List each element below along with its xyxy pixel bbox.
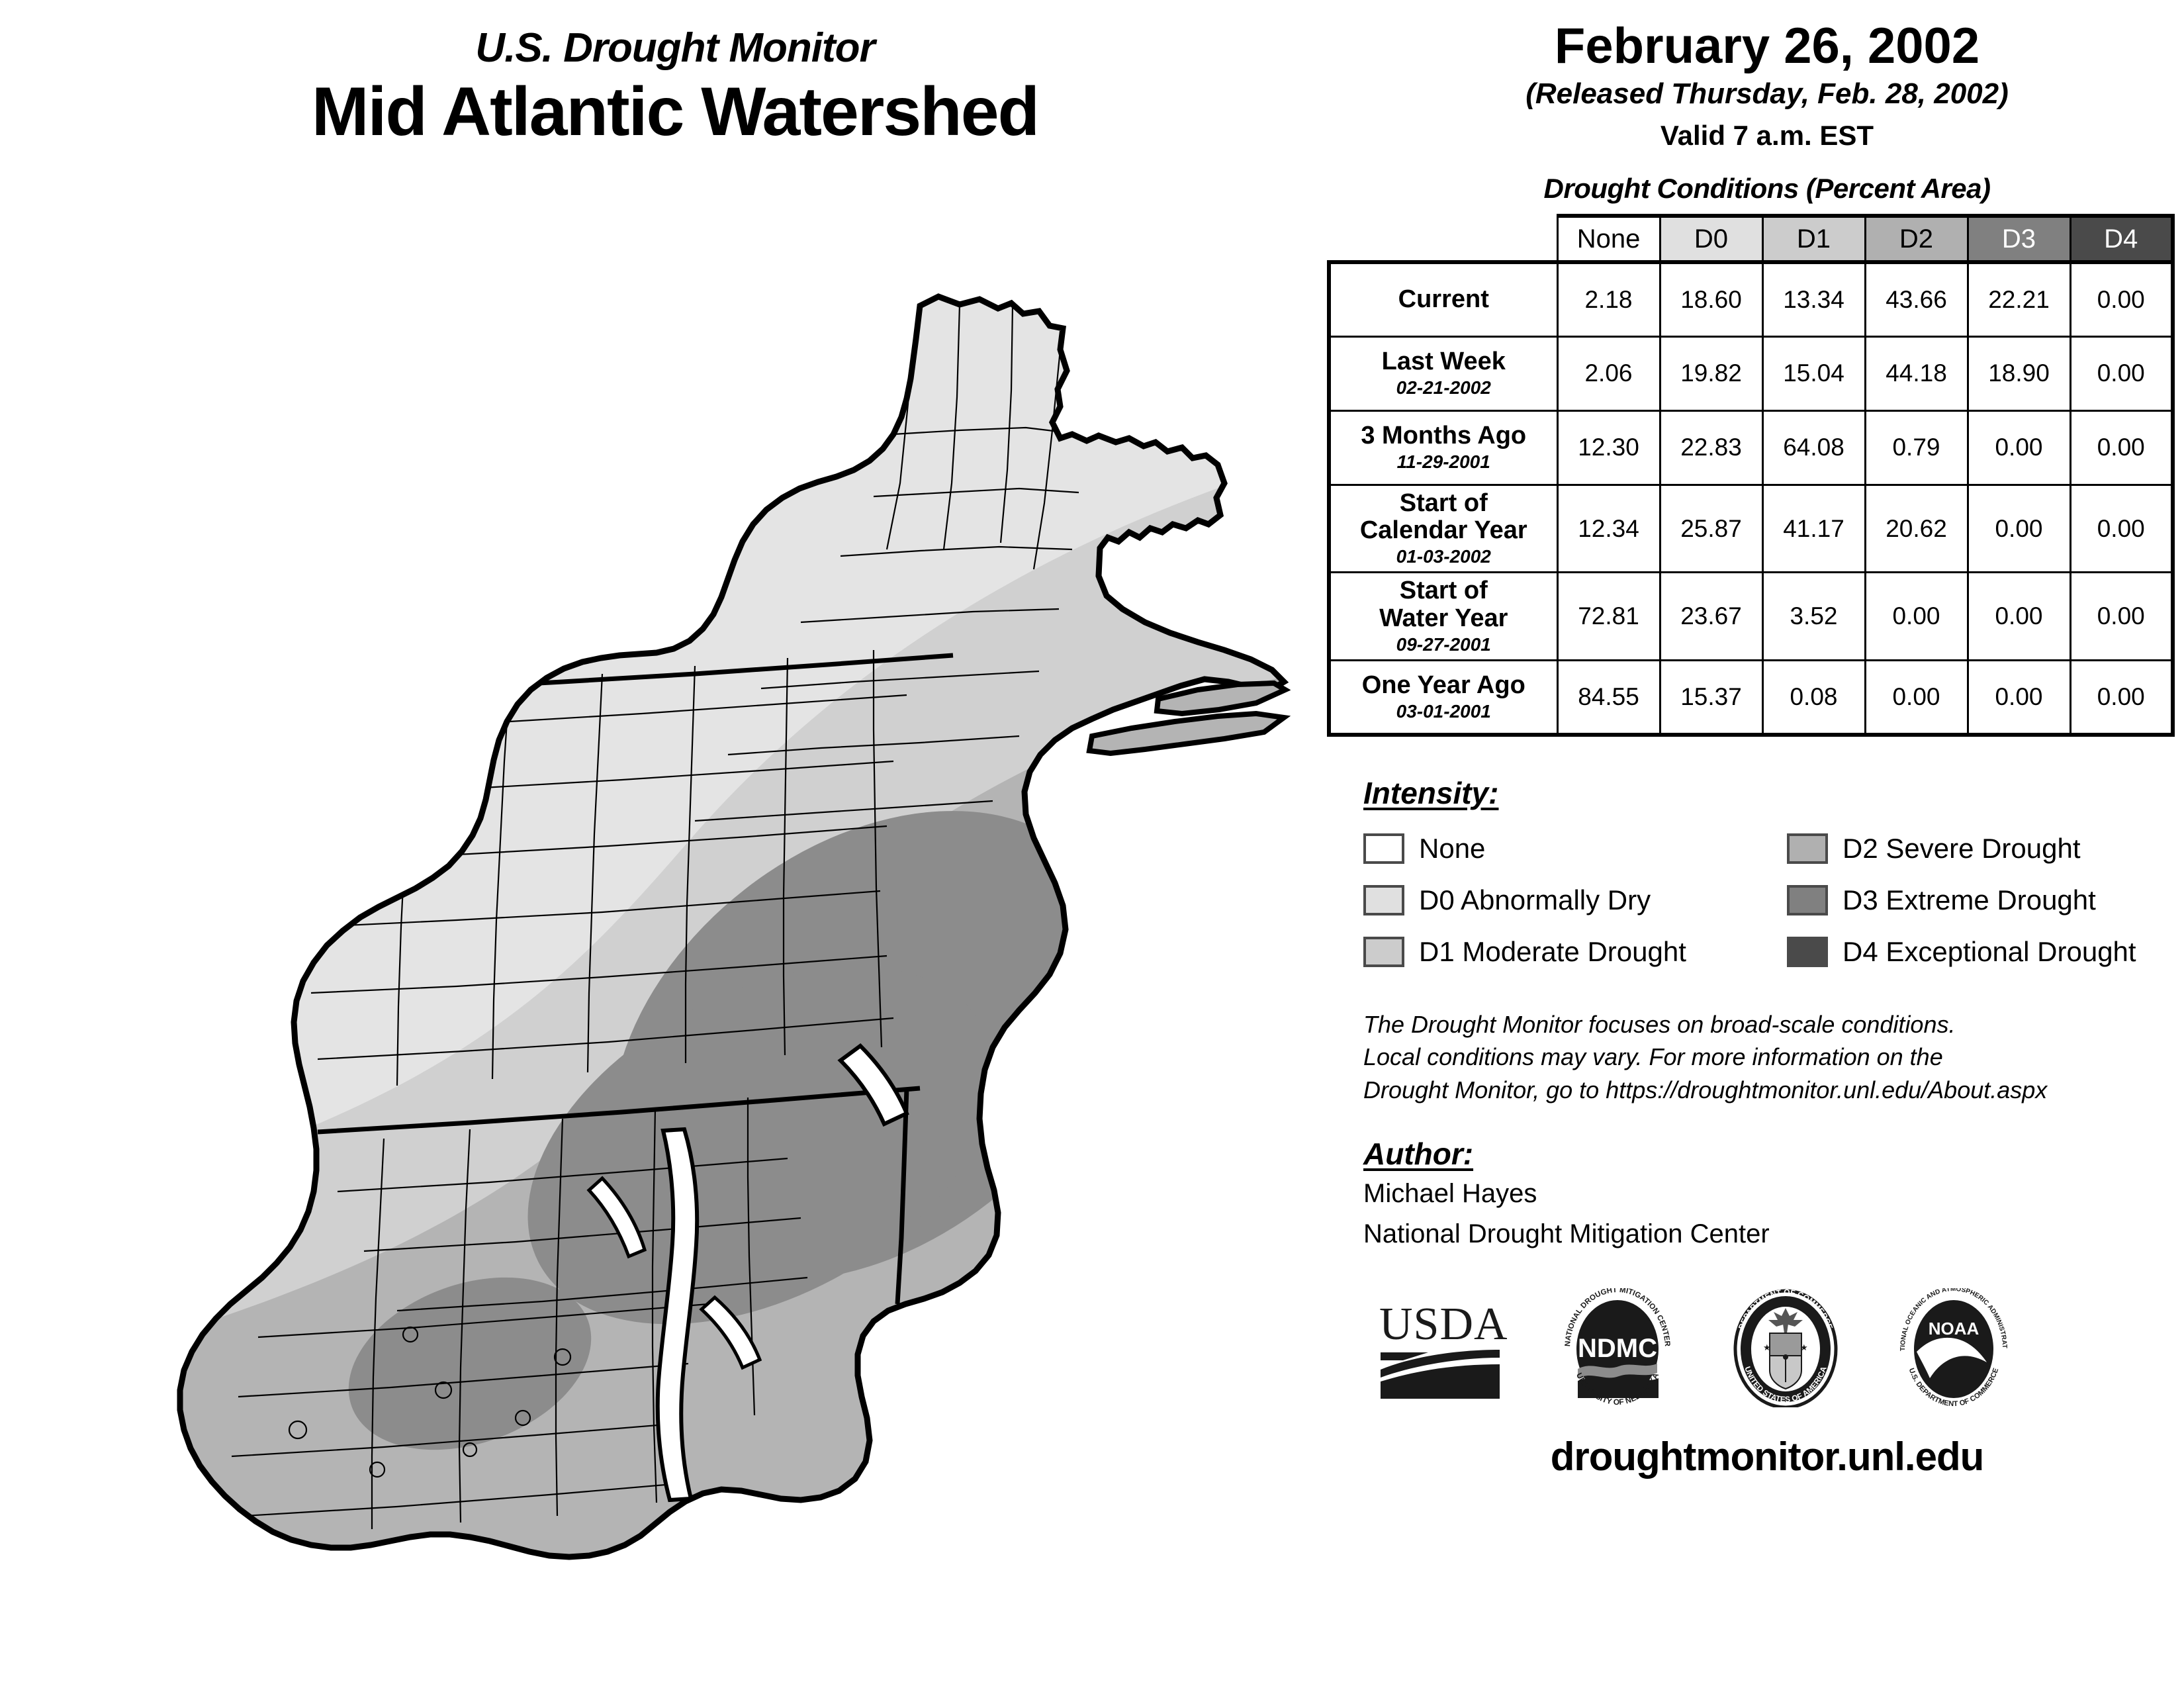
disclaimer-text: The Drought Monitor focuses on broad-sca… — [1363, 1008, 2171, 1107]
row-label-date: 03-01-2001 — [1334, 701, 1554, 722]
logo-row: USDA NDMC NATIONAL DROUGHT MITIGATION CE… — [1363, 1288, 2171, 1407]
map-intensity-layer — [99, 265, 1291, 1589]
table-row: One Year Ago03-01-200184.5515.370.080.00… — [1329, 661, 2173, 735]
table-cell: 0.00 — [1865, 573, 1968, 661]
table-header-d0: D0 — [1660, 216, 1762, 262]
table-cell: 12.30 — [1557, 410, 1660, 485]
row-label-date: 02-21-2002 — [1334, 377, 1554, 399]
noaa-logo: NOAA NATIONAL OCEANIC AND ATMOSPHERIC AD… — [1894, 1288, 2013, 1407]
table-cell: 64.08 — [1762, 410, 1865, 485]
table-header-d4: D4 — [2070, 216, 2173, 262]
table-cell: 43.66 — [1865, 262, 1968, 336]
table-row-label: Start ofWater Year09-27-2001 — [1329, 573, 1557, 661]
table-cell: 22.21 — [1968, 262, 2070, 336]
row-label-name: 3 Months Ago — [1334, 422, 1554, 450]
svg-text:NOAA: NOAA — [1929, 1319, 1979, 1338]
table-cell: 25.87 — [1660, 485, 1762, 573]
row-label-date: 09-27-2001 — [1334, 634, 1554, 655]
legend-swatch — [1787, 937, 1828, 967]
table-cell: 72.81 — [1557, 573, 1660, 661]
table-header-d3: D3 — [1968, 216, 2070, 262]
footer-url[interactable]: droughtmonitor.unl.edu — [1363, 1434, 2171, 1479]
drought-map-svg[interactable] — [99, 265, 1291, 1589]
legend-item: None — [1363, 833, 1787, 865]
row-label-name: Start ofWater Year — [1334, 577, 1554, 633]
table-cell: 44.18 — [1865, 336, 1968, 410]
ndmc-logo: NDMC NATIONAL DROUGHT MITIGATION CENTER … — [1558, 1288, 1677, 1407]
table-cell: 0.00 — [1865, 661, 1968, 735]
table-cell: 0.00 — [1968, 661, 2070, 735]
table-cell: 0.00 — [2070, 262, 2173, 336]
table-cell: 41.17 — [1762, 485, 1865, 573]
doc-seal-logo: ★ ★ DEPARTMENT OF COMMERCE UNITED STATES… — [1726, 1288, 1845, 1407]
table-cell: 2.18 — [1557, 262, 1660, 336]
author-heading: Author: — [1363, 1136, 2171, 1172]
table-row: 3 Months Ago11-29-200112.3022.8364.080.7… — [1329, 410, 2173, 485]
legend-item: D4 Exceptional Drought — [1787, 936, 2184, 968]
legend-swatch — [1787, 885, 1828, 915]
table-row-label: Start ofCalendar Year01-03-2002 — [1329, 485, 1557, 573]
table-header-d2: D2 — [1865, 216, 1968, 262]
page-title-block: U.S. Drought Monitor Mid Atlantic Waters… — [93, 26, 1257, 148]
legend-label: D3 Extreme Drought — [1843, 884, 2096, 916]
table-cell: 84.55 — [1557, 661, 1660, 735]
row-label-date: 01-03-2002 — [1334, 546, 1554, 567]
table-header-blank — [1329, 216, 1557, 262]
intensity-legend: NoneD2 Severe DroughtD0 Abnormally DryD3… — [1363, 823, 2171, 978]
table-cell: 19.82 — [1660, 336, 1762, 410]
table-cell: 0.00 — [1968, 410, 2070, 485]
table-cell: 0.08 — [1762, 661, 1865, 735]
table-cell: 3.52 — [1762, 573, 1865, 661]
row-label-name: Start ofCalendar Year — [1334, 490, 1554, 545]
table-row-label: One Year Ago03-01-2001 — [1329, 661, 1557, 735]
table-row: Current2.1818.6013.3443.6622.210.00 — [1329, 262, 2173, 336]
table-cell: 0.00 — [2070, 410, 2173, 485]
table-caption: Drought Conditions (Percent Area) — [1363, 173, 2171, 205]
legend-item: D2 Severe Drought — [1787, 833, 2184, 865]
legend-item: D1 Moderate Drought — [1363, 936, 1787, 968]
table-cell: 12.34 — [1557, 485, 1660, 573]
disclaimer-line-3: Drought Monitor, go to https://droughtmo… — [1363, 1074, 2171, 1107]
table-cell: 23.67 — [1660, 573, 1762, 661]
legend-swatch — [1787, 833, 1828, 864]
table-cell: 0.79 — [1865, 410, 1968, 485]
page-title-subtitle: U.S. Drought Monitor — [93, 26, 1257, 70]
table-header-row: NoneD0D1D2D3D4 — [1329, 216, 2173, 262]
table-row: Start ofWater Year09-27-200172.8123.673.… — [1329, 573, 2173, 661]
svg-text:NDMC: NDMC — [1578, 1334, 1657, 1363]
table-cell: 18.90 — [1968, 336, 2070, 410]
table-cell: 0.00 — [2070, 573, 2173, 661]
table-cell: 0.00 — [2070, 485, 2173, 573]
table-row-label: 3 Months Ago11-29-2001 — [1329, 410, 1557, 485]
table-cell: 0.00 — [1968, 573, 2070, 661]
legend-label: D4 Exceptional Drought — [1843, 936, 2136, 968]
legend-swatch — [1363, 833, 1404, 864]
table-cell: 15.04 — [1762, 336, 1865, 410]
usda-logo: USDA — [1377, 1291, 1509, 1404]
author-name: Michael Hayes — [1363, 1176, 2171, 1212]
disclaimer-line-2: Local conditions may vary. For more info… — [1363, 1041, 2171, 1074]
table-cell: 0.00 — [1968, 485, 2070, 573]
table-cell: 0.00 — [2070, 661, 2173, 735]
legend-label: None — [1419, 833, 1485, 865]
row-label-date: 11-29-2001 — [1334, 451, 1554, 473]
drought-conditions-table: NoneD0D1D2D3D4 Current2.1818.6013.3443.6… — [1327, 214, 2175, 737]
legend-label: D0 Abnormally Dry — [1419, 884, 1651, 916]
date-block: February 26, 2002 (Released Thursday, Fe… — [1363, 20, 2171, 152]
row-label-name: Current — [1334, 286, 1554, 314]
svg-text:★: ★ — [1763, 1342, 1771, 1352]
table-cell: 18.60 — [1660, 262, 1762, 336]
legend-swatch — [1363, 937, 1404, 967]
author-affiliation: National Drought Mitigation Center — [1363, 1216, 2171, 1252]
table-cell: 0.00 — [2070, 336, 2173, 410]
drought-map[interactable] — [99, 265, 1291, 1589]
legend-item: D0 Abnormally Dry — [1363, 884, 1787, 916]
svg-text:★: ★ — [1800, 1342, 1808, 1352]
svg-text:USDA: USDA — [1379, 1299, 1508, 1350]
table-row-label: Current — [1329, 262, 1557, 336]
intensity-heading: Intensity: — [1363, 775, 2171, 811]
row-label-name: Last Week — [1334, 348, 1554, 376]
legend-label: D2 Severe Drought — [1843, 833, 2081, 865]
legend-item: D3 Extreme Drought — [1787, 884, 2184, 916]
table-cell: 2.06 — [1557, 336, 1660, 410]
table-row-label: Last Week02-21-2002 — [1329, 336, 1557, 410]
release-date: (Released Thursday, Feb. 28, 2002) — [1363, 77, 2171, 111]
page-title: Mid Atlantic Watershed — [93, 76, 1257, 148]
valid-time: Valid 7 a.m. EST — [1363, 120, 2171, 152]
table-cell: 13.34 — [1762, 262, 1865, 336]
legend-label: D1 Moderate Drought — [1419, 936, 1686, 968]
table-row: Start ofCalendar Year01-03-200212.3425.8… — [1329, 485, 2173, 573]
table-header-d1: D1 — [1762, 216, 1865, 262]
row-label-name: One Year Ago — [1334, 672, 1554, 700]
table-cell: 15.37 — [1660, 661, 1762, 735]
table-row: Last Week02-21-20022.0619.8215.0444.1818… — [1329, 336, 2173, 410]
table-cell: 22.83 — [1660, 410, 1762, 485]
info-panel: February 26, 2002 (Released Thursday, Fe… — [1363, 20, 2171, 1479]
table-cell: 20.62 — [1865, 485, 1968, 573]
legend-swatch — [1363, 885, 1404, 915]
disclaimer-line-1: The Drought Monitor focuses on broad-sca… — [1363, 1008, 2171, 1041]
report-date: February 26, 2002 — [1363, 20, 2171, 73]
table-header-none: None — [1557, 216, 1660, 262]
table-body: Current2.1818.6013.3443.6622.210.00Last … — [1329, 262, 2173, 735]
